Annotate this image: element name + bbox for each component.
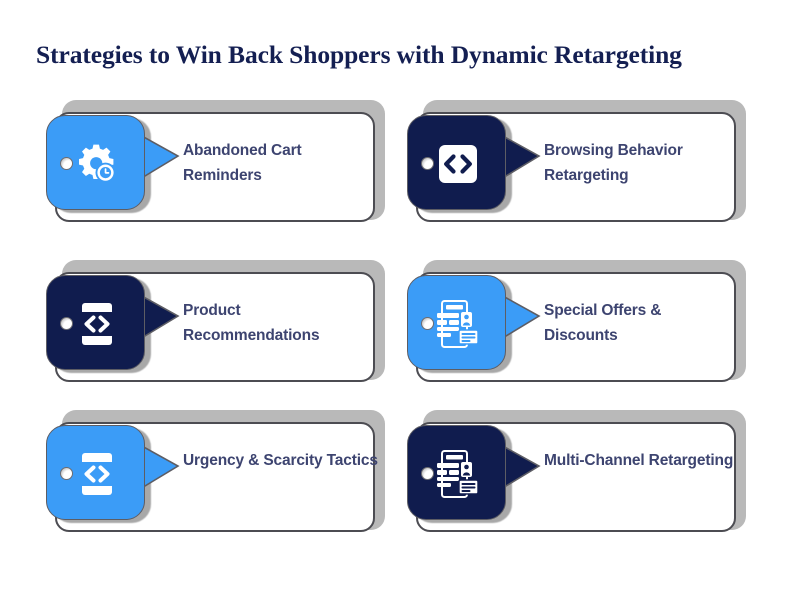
gear-clock-icon bbox=[47, 116, 146, 211]
page-title: Strategies to Win Back Shoppers with Dyn… bbox=[36, 40, 766, 70]
card-label: Browsing Behavior Retargeting bbox=[544, 138, 739, 189]
card-label: Multi-Channel Retargeting bbox=[544, 448, 739, 473]
card-product-recommendations[interactable]: Product Recommendations bbox=[40, 258, 385, 388]
card-label: Special Offers & Discounts bbox=[544, 298, 739, 349]
card-multi-channel-retargeting[interactable]: Multi-Channel Retargeting bbox=[401, 408, 746, 538]
badge bbox=[46, 275, 145, 370]
card-abandoned-cart-reminders[interactable]: Abandoned Cart Reminders bbox=[40, 98, 385, 228]
badge bbox=[46, 425, 145, 520]
infographic-canvas: Strategies to Win Back Shoppers with Dyn… bbox=[0, 0, 800, 597]
mobile-code-icon bbox=[47, 426, 146, 521]
code-brackets-icon bbox=[408, 116, 507, 211]
badge bbox=[407, 275, 506, 370]
card-special-offers-discounts[interactable]: Special Offers & Discounts bbox=[401, 258, 746, 388]
card-browsing-behavior-retargeting[interactable]: Browsing Behavior Retargeting bbox=[401, 98, 746, 228]
dashboard-layout-icon bbox=[408, 276, 507, 371]
card-urgency-scarcity-tactics[interactable]: Urgency & Scarcity Tactics bbox=[40, 408, 385, 538]
badge bbox=[46, 115, 145, 210]
card-label: Product Recommendations bbox=[183, 298, 378, 349]
card-label: Urgency & Scarcity Tactics bbox=[183, 448, 378, 473]
badge bbox=[407, 115, 506, 210]
dashboard-layout-icon bbox=[408, 426, 507, 521]
badge bbox=[407, 425, 506, 520]
card-label: Abandoned Cart Reminders bbox=[183, 138, 378, 189]
mobile-code-icon bbox=[47, 276, 146, 371]
